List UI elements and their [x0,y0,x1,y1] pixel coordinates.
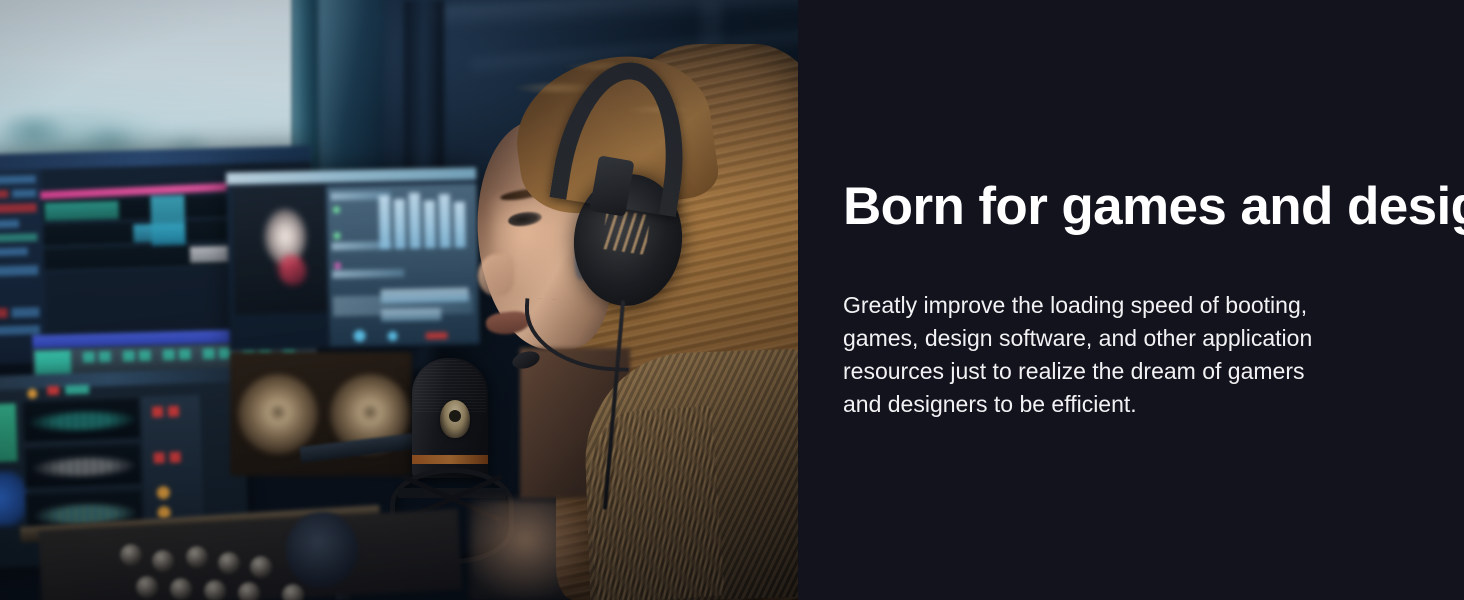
mixer-channel [454,202,466,248]
console-knob [136,576,158,598]
studio-photo [0,0,798,600]
microphone-badge-icon [440,400,470,438]
mixer-channel [409,193,421,249]
mixer-channel [424,200,436,248]
video-call-mixer-monitor [226,167,480,350]
waveform-lane [22,397,141,443]
mixer-bar [381,288,469,304]
daw-control [12,189,36,198]
jog-wheel [286,512,358,588]
console-knob [204,580,226,600]
headphone-logo [601,209,650,255]
mixer-led [426,332,448,339]
daw-control [0,233,38,242]
waveform-knob [27,389,37,399]
mixer-channel [439,194,451,248]
waveform-record-led [169,452,180,463]
daw-clip [150,195,185,246]
waveform-trace [29,452,140,482]
daw-channel-button [179,349,191,360]
daw-control [0,175,36,184]
mixer-channel [379,195,391,249]
page-title: Born for games and design [843,179,1434,235]
daw-control [0,265,39,276]
daw-control [0,308,8,318]
daw-clip [45,201,119,221]
daw-control [0,247,28,256]
waveform-record-led [168,406,179,417]
daw-channel-button [83,352,95,363]
waveform-record-led [152,406,163,417]
daw-channel-button [139,350,151,361]
console-knob [282,584,304,600]
daw-channel-button [99,351,111,362]
mixer-row [332,269,404,279]
console-knob [238,582,260,600]
waveform-record-led [47,386,59,395]
daw-channel-button [203,348,215,359]
waveform-record-led [153,452,164,463]
waveform-trace [27,406,138,436]
waveform-button [65,385,89,395]
console-knob [152,550,174,572]
console-knob [120,544,142,566]
daw-control [0,325,40,335]
nose [478,254,514,296]
daw-control [11,307,39,318]
daw-control [0,203,37,213]
daw-channel-button [123,350,135,361]
waveform-side-meter [0,403,18,463]
console-knob [170,578,192,600]
console-knob [186,546,208,568]
console-knob [218,552,240,574]
mixer-channel [394,199,406,249]
daw-control [0,190,8,199]
description-text: Greatly improve the loading speed of boo… [843,289,1335,421]
mixer-indicator [334,262,341,269]
waveform-lane [23,443,142,489]
console-knob [250,556,272,578]
microphone-accent-ring [412,455,488,464]
text-panel-content: Born for games and design Greatly improv… [843,0,1434,600]
product-feature-banner: Born for games and design Greatly improv… [0,0,1464,600]
studio-speaker-cone [238,374,318,454]
mixer-indicator [333,206,340,213]
mixer-bar [381,308,441,321]
daw-channel-button [163,349,175,360]
hand [470,500,590,600]
text-panel: Born for games and design Greatly improv… [798,0,1464,600]
daw-control [0,220,19,229]
